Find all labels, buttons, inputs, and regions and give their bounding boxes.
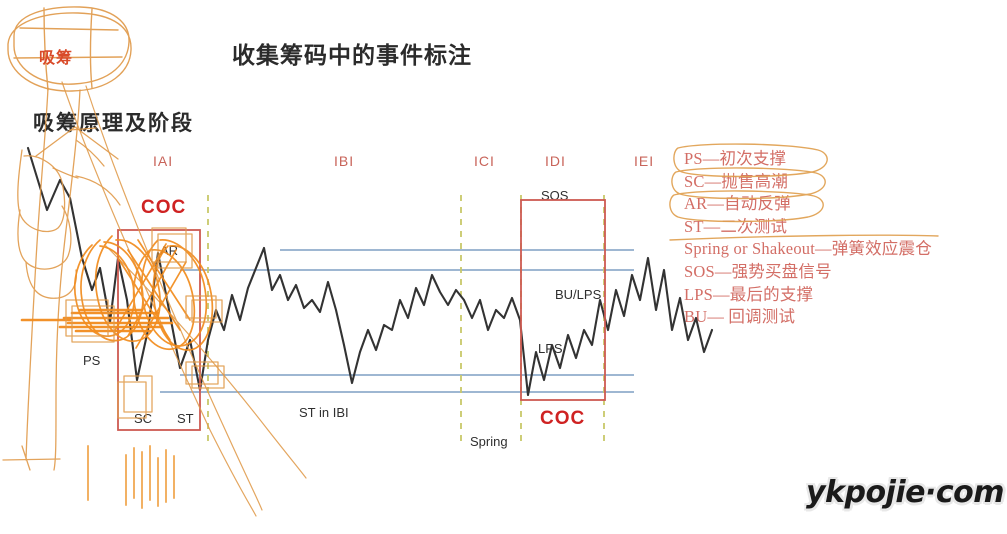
ink-arm-strokes [36, 127, 120, 205]
ink-vertical-tally [88, 446, 174, 508]
ink-body-figure [3, 88, 104, 470]
handwritten-ink-overlay [0, 0, 1007, 534]
wyckoff-accumulation-diagram: 收集筹码中的事件标注 吸筹原理及阶段 吸筹 IAIIBIICIIDIIEICOC… [0, 0, 1007, 534]
ink-legend-ovals [670, 144, 938, 240]
handwritten-xichou-label: 吸筹 [39, 44, 73, 68]
